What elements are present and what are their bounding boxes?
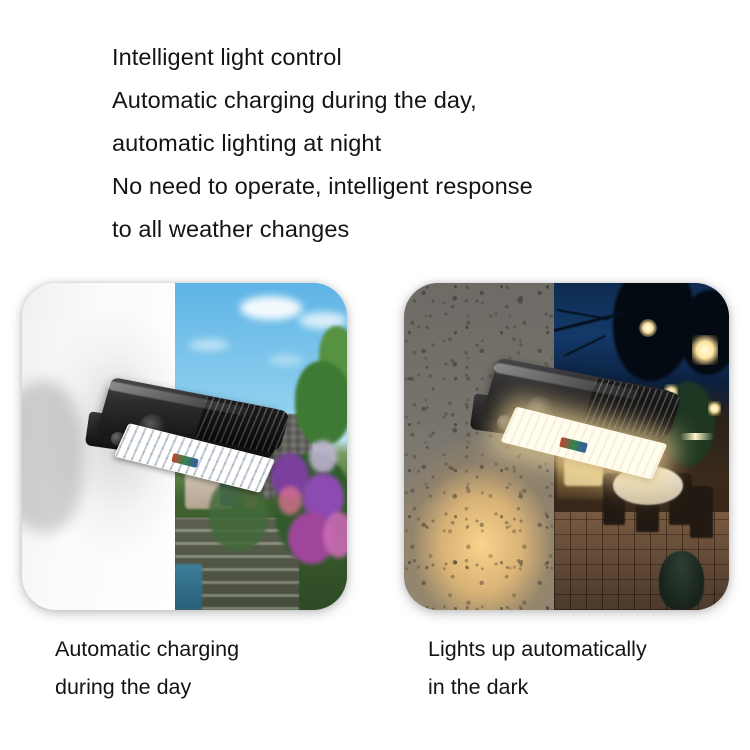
solar-wall-lamp-day [87,375,289,506]
flower-bed [309,440,337,473]
night-caption-line-1: Lights up automatically [428,630,748,668]
solar-wall-lamp-night [472,355,680,492]
headline-line-5: to all weather changes [112,208,692,251]
headline-block: Intelligent light control Automatic char… [112,36,692,251]
patio-chair [690,486,713,538]
bare-branch [564,335,606,357]
night-caption-line-2: in the dark [428,668,748,706]
headline-line-3: automatic lighting at night [112,122,692,165]
headline-line-4: No need to operate, intelligent response [112,165,692,208]
flower-bed [323,512,347,558]
cloud-icon [189,339,229,351]
headline-line-1: Intelligent light control [112,36,692,79]
day-panel-image [22,283,347,610]
foliage-cluster [295,361,347,446]
comparison-panels [0,283,750,613]
hanging-lantern-light [692,335,718,365]
garden-pond [175,564,203,610]
day-panel-caption: Automatic charging during the day [55,630,385,706]
cloud-icon [240,296,302,320]
headline-line-2: Automatic charging during the day, [112,79,692,122]
lamp-cast-shadow [22,381,83,531]
day-caption-line-1: Automatic charging [55,630,385,668]
night-panel-caption: Lights up automatically in the dark [428,630,748,706]
ceiling-strip-light [680,433,714,440]
hanging-lantern-light [708,401,721,416]
day-caption-line-2: during the day [55,668,385,706]
night-panel-image [404,283,729,610]
bare-branch [557,309,609,320]
cloud-icon [269,355,303,365]
planter-pot [659,551,705,610]
product-feature-page: { "page": { "background_color": "#ffffff… [0,0,750,750]
